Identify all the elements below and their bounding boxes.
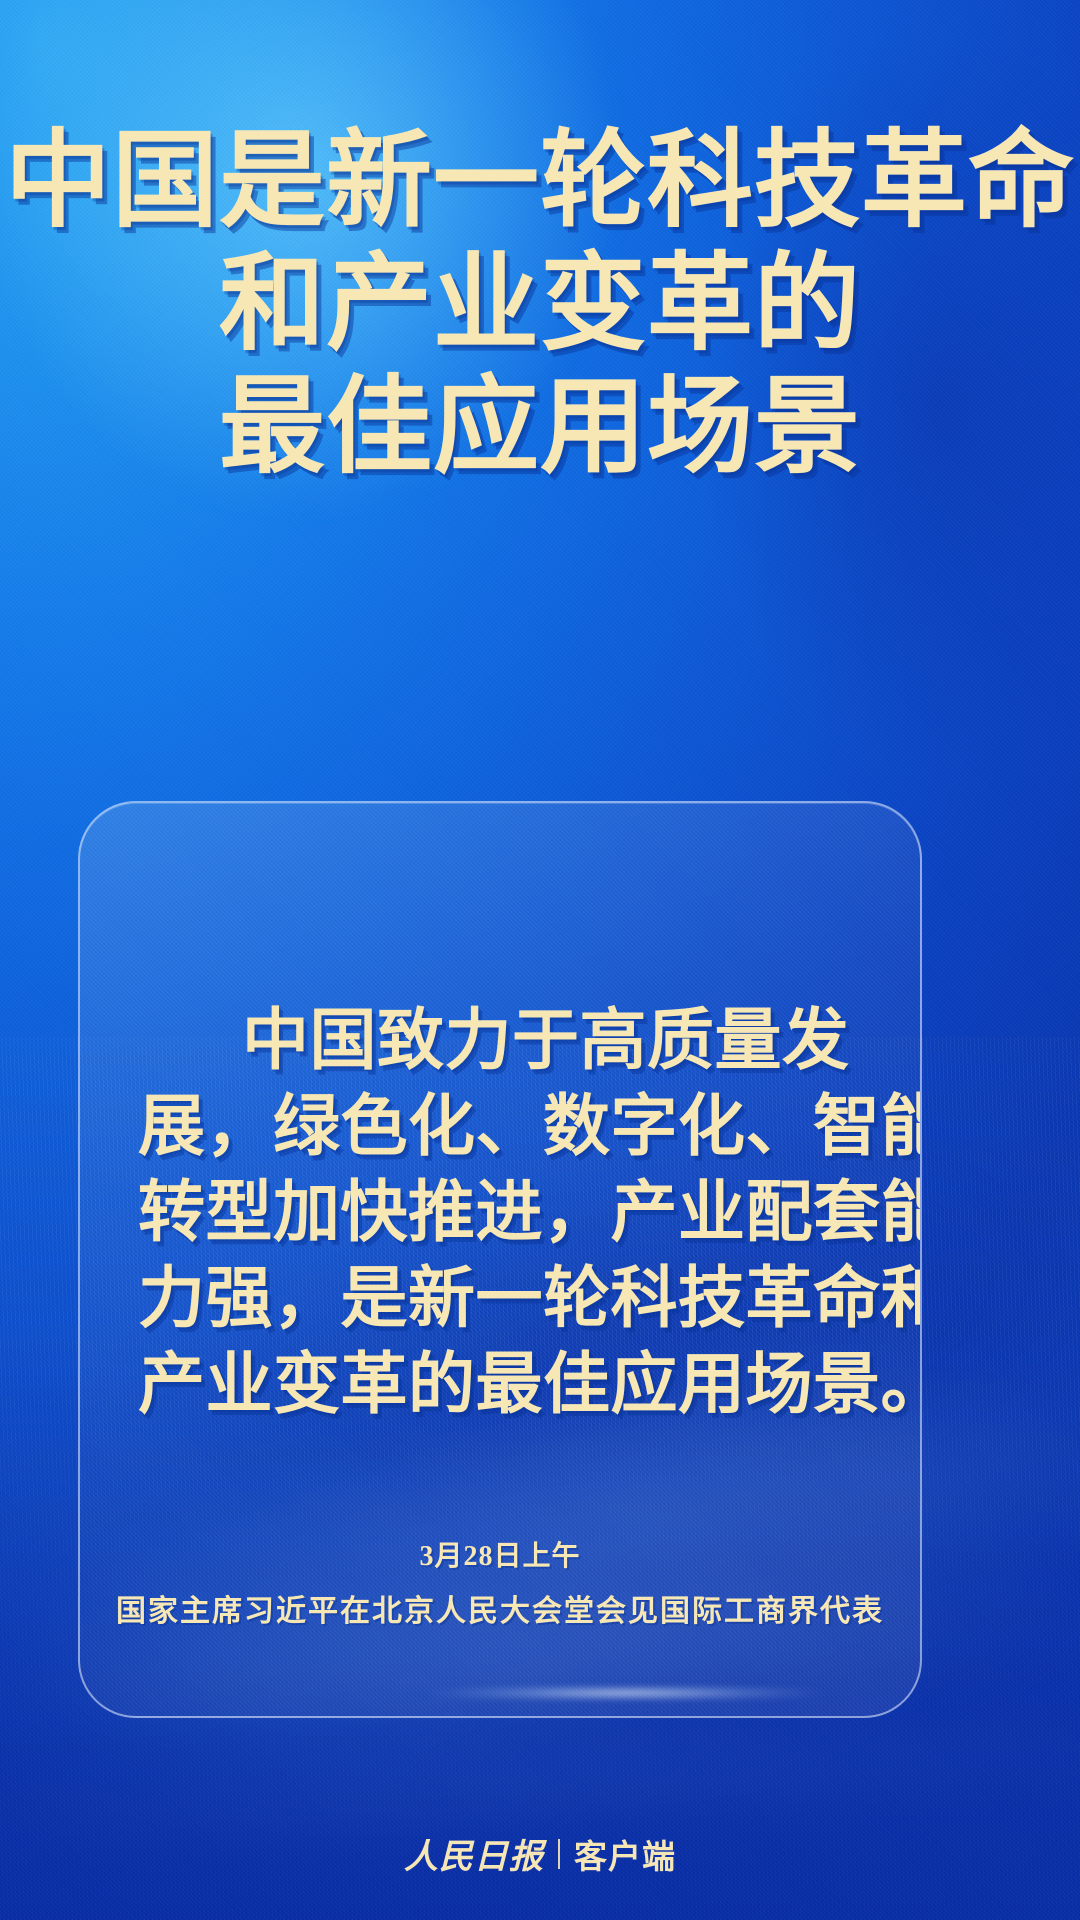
poster-root: 中国是新一轮科技革命 和产业变革的 最佳应用场景 中国致力于高质量发 展，绿色化… [0,0,1080,1920]
logo-separator-icon [558,1839,560,1869]
headline: 中国是新一轮科技革命 和产业变革的 最佳应用场景 [0,120,1080,489]
attribution-date: 3月28日上午 [80,1534,920,1574]
quote-line-5: 产业变革的最佳应用场景。 [138,1342,874,1428]
quote-card: 中国致力于高质量发 展，绿色化、数字化、智能化 转型加快推进，产业配套能 力强，… [78,801,922,1718]
quote-line-3: 转型加快推进，产业配套能 [138,1170,874,1256]
headline-line-1: 中国是新一轮科技革命 [0,120,1080,243]
quote-line-1: 中国致力于高质量发 [138,998,874,1084]
footer-logo: 人民日报 客户端 [0,1829,1080,1878]
logo-app-text: 客户端 [574,1830,676,1878]
quote-line-4: 力强，是新一轮科技革命和 [138,1256,874,1342]
quote-card-light-streak [366,1686,887,1700]
attribution-description: 国家主席习近平在北京人民大会堂会见国际工商界代表 [80,1586,920,1630]
logo-brand-text: 人民日报 [404,1829,544,1878]
attribution: 3月28日上午 国家主席习近平在北京人民大会堂会见国际工商界代表 [80,1534,920,1630]
quote-line-2: 展，绿色化、数字化、智能化 [138,1084,874,1170]
headline-line-2: 和产业变革的 [0,243,1080,366]
quote-text: 中国致力于高质量发 展，绿色化、数字化、智能化 转型加快推进，产业配套能 力强，… [80,998,920,1428]
headline-line-3: 最佳应用场景 [0,366,1080,489]
